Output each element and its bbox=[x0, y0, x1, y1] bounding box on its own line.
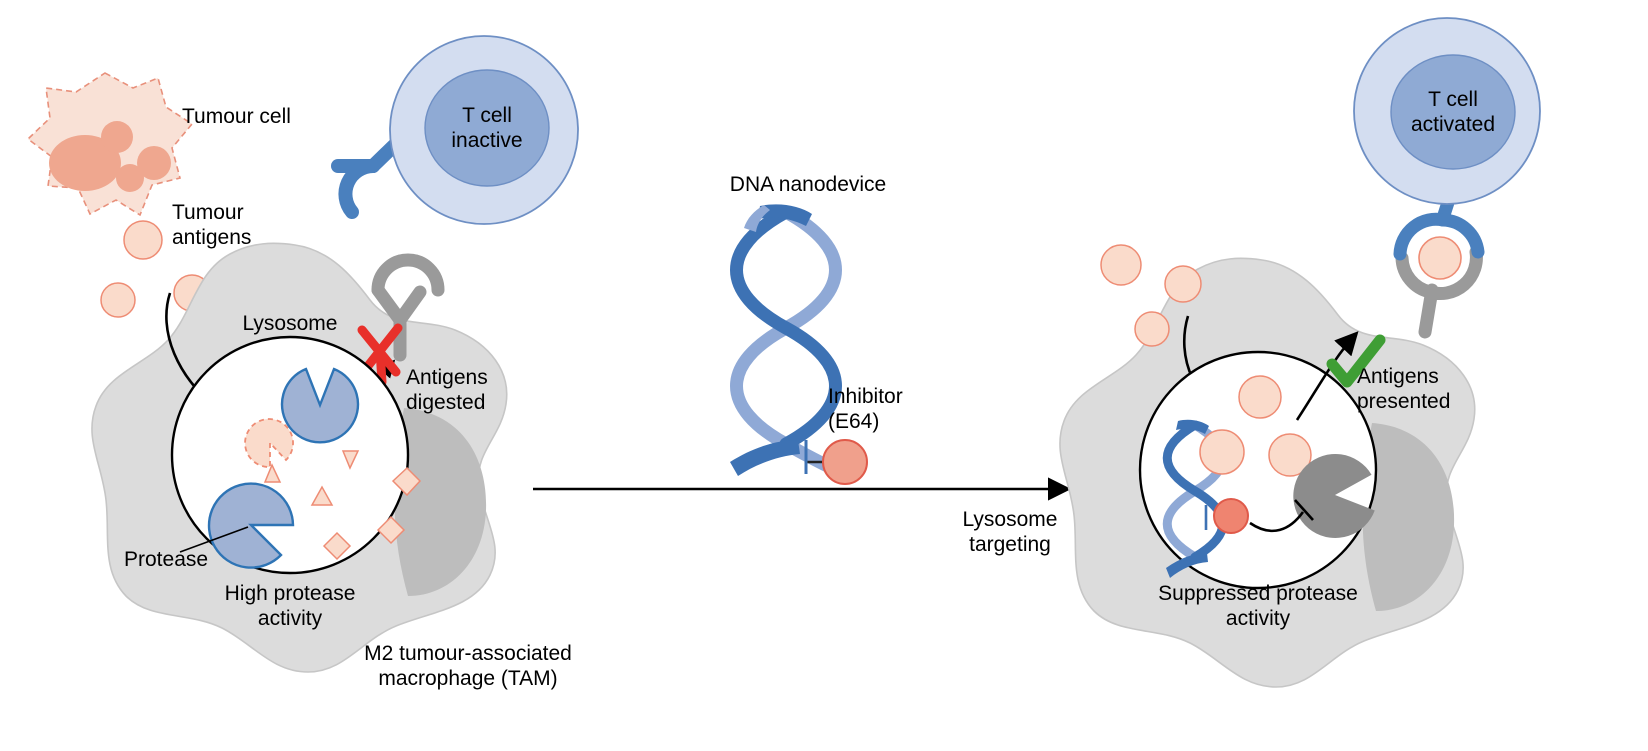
tumour-blob bbox=[137, 146, 171, 180]
antigen bbox=[1200, 430, 1244, 474]
tumour-blob bbox=[101, 121, 133, 153]
dna-nanodevice bbox=[730, 204, 840, 476]
antigen bbox=[124, 221, 162, 259]
diagram-svg: Tumour cell Tumour antigens Antigens dig… bbox=[0, 0, 1648, 751]
high-protease-label-line2: activity bbox=[258, 607, 323, 630]
tcell-activated-label-line1: T cell bbox=[1428, 88, 1478, 111]
macrophage-label-line2: macrophage (TAM) bbox=[378, 667, 557, 690]
tcell-activated-nucleus bbox=[1391, 55, 1515, 169]
antigens-presented-label-line1: Antigens bbox=[1357, 365, 1439, 388]
inhibitor-molecule-internalized bbox=[1214, 499, 1248, 533]
lysosome-label: Lysosome bbox=[243, 312, 338, 335]
tumour-cell-label: Tumour cell bbox=[182, 105, 291, 128]
lysosome-targeting-label-line1: Lysosome bbox=[963, 508, 1058, 531]
protease-label: Protease bbox=[124, 548, 208, 571]
presented-antigen bbox=[1419, 237, 1461, 279]
inhibitor-molecule bbox=[823, 440, 867, 484]
tcell-inactive-label-line1: T cell bbox=[462, 104, 512, 127]
lysosome-targeting-label-line2: targeting bbox=[969, 533, 1051, 556]
lysosome-left bbox=[172, 337, 408, 573]
tcell-inactive-nucleus bbox=[425, 70, 549, 186]
antigen-digesting bbox=[245, 419, 293, 467]
antigens-digested-label-line1: Antigens bbox=[406, 366, 488, 389]
suppressed-protease-label-line2: activity bbox=[1226, 607, 1291, 630]
antigens-presented-label-line2: presented bbox=[1357, 390, 1450, 413]
inhibitor-label-line1: Inhibitor bbox=[828, 385, 903, 408]
figure-canvas: Tumour cell Tumour antigens Antigens dig… bbox=[0, 0, 1648, 751]
antigen bbox=[101, 283, 135, 317]
macrophage-label-line1: M2 tumour-associated bbox=[364, 642, 572, 665]
tumour-antigens-label-line2: antigens bbox=[172, 226, 251, 249]
suppressed-protease-label-line1: Suppressed protease bbox=[1158, 582, 1358, 605]
protease-active bbox=[209, 484, 293, 568]
antigen bbox=[1135, 312, 1169, 346]
dna-nanodevice-label: DNA nanodevice bbox=[730, 173, 886, 196]
antigens-digested-label-line2: digested bbox=[406, 391, 485, 414]
antigen bbox=[1165, 266, 1201, 302]
tumour-cell bbox=[28, 73, 192, 215]
antigen bbox=[1239, 376, 1281, 418]
antigen bbox=[1101, 245, 1141, 285]
inhibitor-label-line2: (E64) bbox=[828, 410, 879, 433]
tcell-inactive-label-line2: inactive bbox=[451, 129, 522, 152]
tcell-activated-label-line2: activated bbox=[1411, 113, 1495, 136]
tumour-antigens-label-line1: Tumour bbox=[172, 201, 244, 224]
high-protease-label-line1: High protease bbox=[225, 582, 356, 605]
